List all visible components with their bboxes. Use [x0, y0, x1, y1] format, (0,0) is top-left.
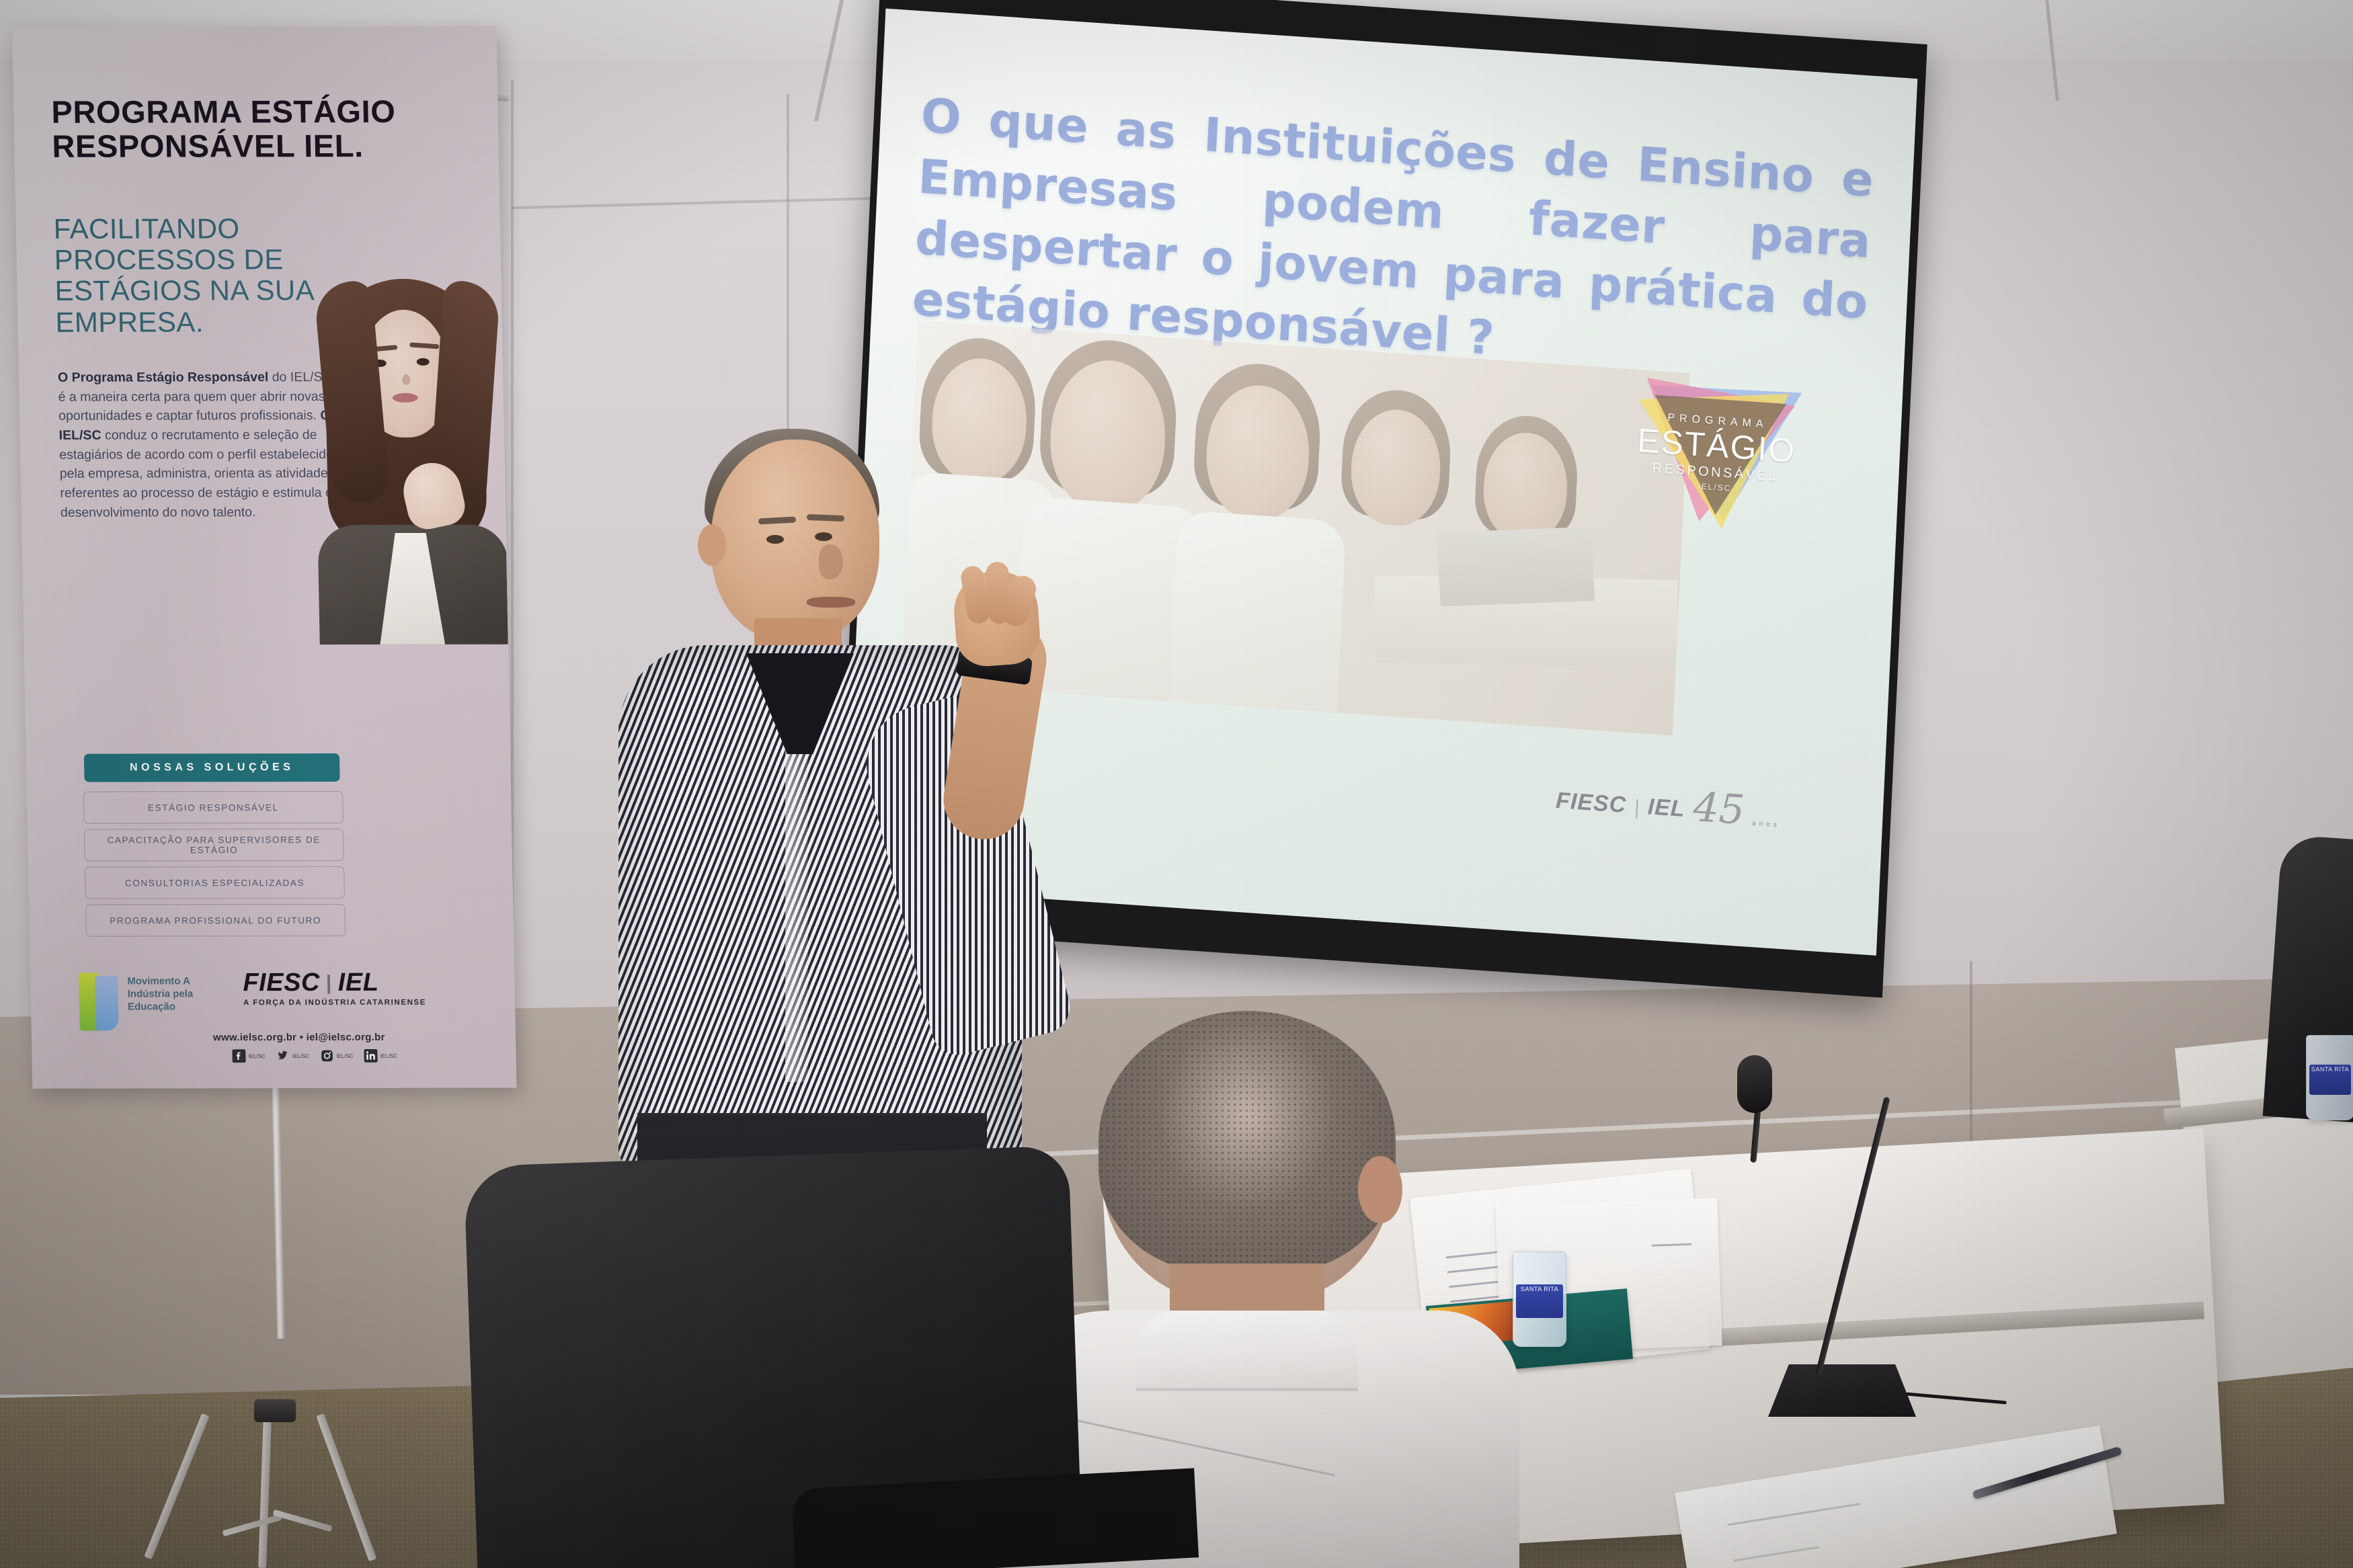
- attendee-ear: [1358, 1156, 1402, 1223]
- banner-body-text: O Programa Estágio Responsável do IEL/SC…: [58, 368, 336, 522]
- banner-logo-block: Movimento A Indústria pela Educação FIES…: [71, 960, 449, 1062]
- attendee-collar: [1136, 1311, 1358, 1391]
- solution-item-1: CAPACITAÇÃO PARA SUPERVISORES DE ESTÁGIO: [84, 829, 344, 862]
- solution-item-2: CONSULTORIAS ESPECIALIZADAS: [85, 866, 345, 899]
- slide-footer-anniversary: 45: [1693, 791, 1745, 827]
- slide-footer-anos: anos: [1752, 820, 1780, 829]
- banner-body-bold-1: O Programa Estágio Responsável: [58, 370, 269, 385]
- attendee-hair: [1099, 1011, 1396, 1273]
- movimento-logo-mark: [79, 973, 122, 1031]
- social-facebook-label: IEL/SC: [248, 1053, 266, 1059]
- slide-footer-separator: |: [1634, 796, 1640, 819]
- model-lips: [393, 393, 418, 403]
- banner-iel-text: IEL: [337, 968, 378, 997]
- twitter-icon: [276, 1049, 290, 1063]
- banner-fiesc-separator: |: [325, 971, 332, 994]
- social-instagram: IEL/SC: [320, 1049, 354, 1063]
- logo-text-block: PROGRAMA ESTÁGIO RESPONSÁVEL IEL/SC: [1630, 410, 1802, 498]
- solution-item-0: ESTÁGIO RESPONSÁVEL: [83, 791, 344, 824]
- instagram-icon: [320, 1049, 333, 1063]
- presenter-head: [711, 440, 879, 641]
- water-cup-side-table: SANTA RITA: [2306, 1035, 2353, 1120]
- social-instagram-label: IEL/SC: [336, 1053, 354, 1059]
- movimento-mark-blue: [95, 976, 119, 1031]
- estagio-responsavel-logo: PROGRAMA ESTÁGIO RESPONSÁVEL IEL/SC: [1628, 376, 1804, 563]
- presenter-ear: [698, 524, 726, 566]
- slide-footer-iel: IEL: [1647, 794, 1686, 823]
- facebook-icon: [232, 1049, 245, 1063]
- microphone-capsule: [1737, 1055, 1772, 1113]
- fiesc-iel-logo: FIESC | IEL A FORÇA DA INDÚSTRIA CATARIN…: [243, 968, 426, 1007]
- presenter-brow-right: [807, 514, 844, 522]
- model-nose: [402, 374, 410, 385]
- banner-model-photo: [306, 261, 508, 645]
- conference-room-scene: O que as Instituições de Ensino e Empres…: [0, 0, 2353, 1568]
- presenter-nose: [819, 544, 843, 579]
- paper-text-line: [1727, 1503, 1860, 1526]
- social-twitter: IEL/SC: [276, 1049, 310, 1063]
- presenter-eye-left: [766, 535, 784, 544]
- presenter-mouth: [807, 597, 855, 608]
- social-linkedin: IEL/SC: [364, 1049, 397, 1063]
- linkedin-icon: [364, 1049, 377, 1063]
- banner-fiesc-text: FIESC: [243, 968, 320, 997]
- rollup-banner: PROGRAMA ESTÁGIO RESPONSÁVEL IEL. FACILI…: [12, 26, 516, 1089]
- social-twitter-label: IEL/SC: [292, 1053, 310, 1059]
- banner-body-lead: O Programa Estágio Responsável: [58, 370, 269, 385]
- student-torso-3: [1169, 510, 1346, 716]
- social-facebook: IEL/SC: [232, 1049, 266, 1063]
- banner-subheadline: FACILITANDO PROCESSOS DE ESTÁGIOS NA SUA…: [53, 213, 345, 337]
- presenter-eye-right: [815, 532, 832, 541]
- solution-item-3: PROGRAMA PROFISSIONAL DO FUTURO: [85, 904, 346, 937]
- solutions-header-bar: NOSSAS SOLUÇÕES: [84, 753, 340, 782]
- banner-website: www.ielsc.org.br • iel@ielsc.org.br: [213, 1032, 385, 1043]
- banner-social-row: IEL/SC IEL/SC IEL/SC IEL/SC: [232, 1049, 397, 1063]
- movimento-logo-text: Movimento A Indústria pela Educação: [127, 975, 229, 1014]
- banner-headline: PROGRAMA ESTÁGIO RESPONSÁVEL IEL.: [51, 95, 429, 163]
- presenter-shirt-placket: [785, 706, 808, 1082]
- social-linkedin-label: IEL/SC: [380, 1053, 397, 1059]
- paper-text-line: [1733, 1546, 1820, 1561]
- attendee-hair-texture: [1099, 1011, 1396, 1273]
- fiesc-iel-row: FIESC | IEL: [243, 968, 426, 997]
- fiesc-tagline: A FORÇA DA INDÚSTRIA CATARINENSE: [243, 999, 426, 1007]
- slide-photo-laptop: [1437, 527, 1595, 607]
- water-cup-side-label: SANTA RITA: [2309, 1065, 2351, 1095]
- slide-footer-fiesc: FIESC: [1555, 788, 1627, 819]
- model-eye-right: [417, 358, 430, 366]
- paper-text-line: [1651, 1243, 1691, 1247]
- tripod-clamp: [254, 1399, 296, 1422]
- microphone-base[interactable]: [1768, 1364, 1916, 1417]
